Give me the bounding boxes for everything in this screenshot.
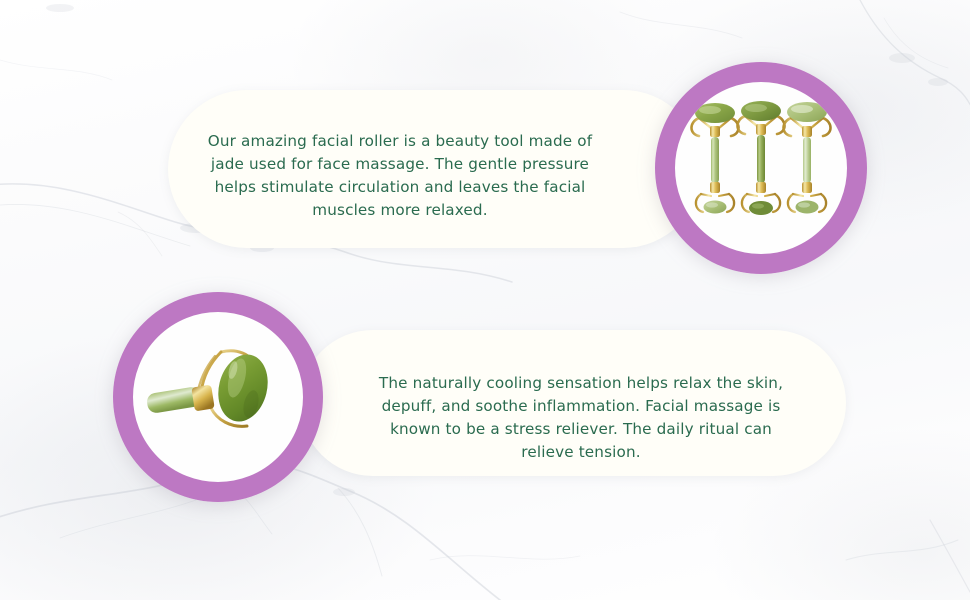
poster-canvas: Our amazing facial roller is a beauty to… [0, 0, 970, 600]
purple-ring-frame-bottom [113, 292, 323, 502]
facial-roller-description-text: Our amazing facial roller is a beauty to… [198, 130, 602, 222]
purple-ring-frame-top [655, 62, 867, 274]
jade-roller-closeup-photo [113, 292, 323, 502]
three-jade-rollers-photo [655, 62, 867, 274]
cooling-sensation-description-text: The naturally cooling sensation helps re… [376, 372, 786, 464]
